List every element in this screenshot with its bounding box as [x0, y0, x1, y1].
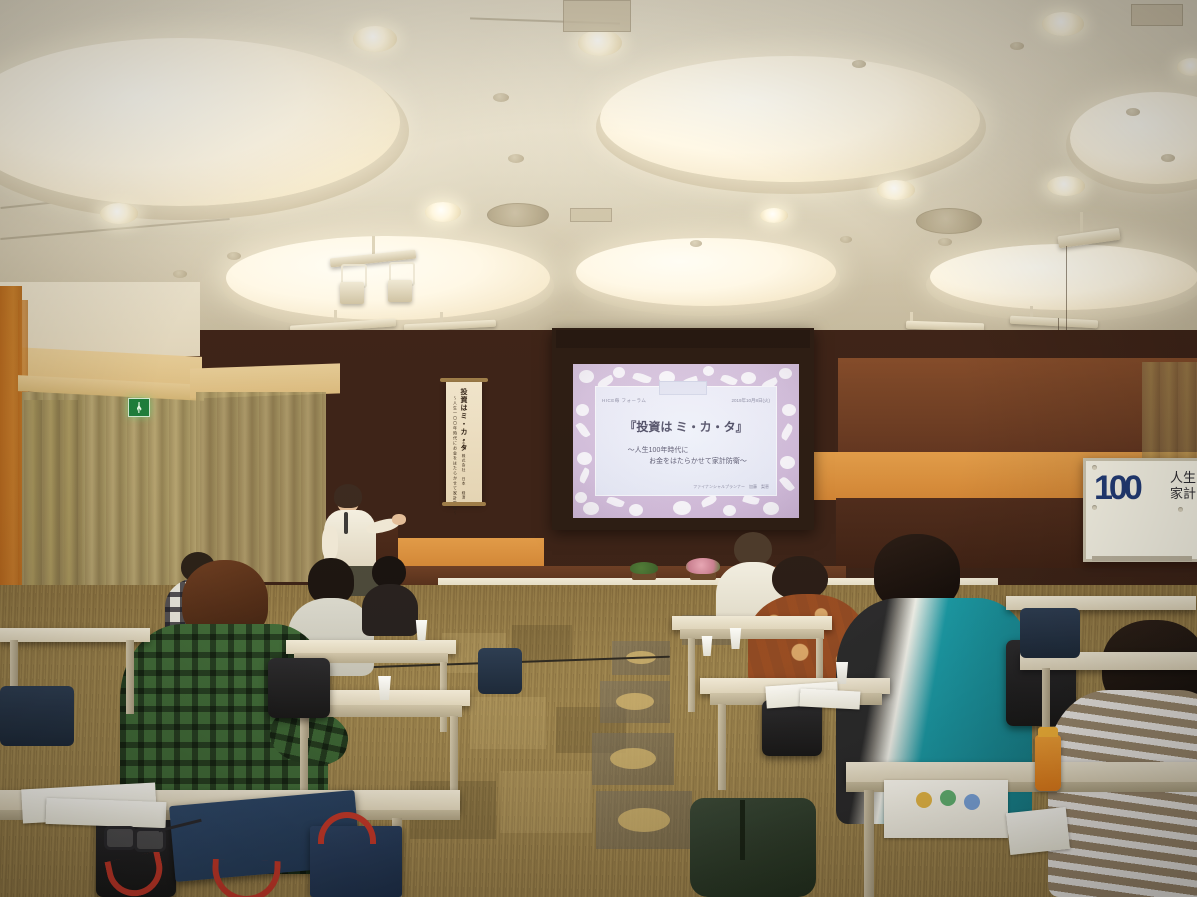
spotlight-head [388, 280, 412, 302]
oval-ceiling-light [226, 236, 550, 320]
downlight [353, 26, 397, 52]
chair [478, 648, 522, 694]
downlight [1042, 12, 1084, 36]
projector-stem [1080, 212, 1083, 234]
chair [268, 658, 330, 718]
poster-magnet [1092, 465, 1097, 470]
desk-apron [680, 629, 824, 639]
carpet-tile-motif [592, 733, 674, 785]
emergency-exit-sign [128, 398, 150, 417]
backpack-strap [740, 800, 745, 860]
eyeglasses [104, 820, 194, 846]
tea-bottle [1035, 735, 1061, 791]
downlight [877, 180, 915, 200]
brochure-graphic [916, 792, 932, 808]
handout-paper [1006, 807, 1070, 855]
carpet-tile [500, 771, 592, 833]
presentation-slide: HICE毎 フォーラム 2019年10月8日(火) 『投資は ミ・カ・タ』 ～人… [573, 364, 799, 518]
speaker-cable [1066, 246, 1067, 342]
attendee-torso [362, 584, 418, 636]
brochure [884, 780, 1008, 838]
projection-screen-header [556, 330, 810, 348]
desk-leg [1042, 668, 1050, 736]
banner-footer: 主催 株式会社 日本 経済 [462, 440, 467, 500]
slide-projection-glare [573, 364, 799, 518]
sprinkler-head [493, 93, 509, 102]
desk [286, 640, 456, 654]
poster-magnet [1178, 507, 1183, 512]
attendee-striped-shirt [1048, 690, 1197, 897]
chair [1020, 608, 1080, 658]
carpet-oval-motif [618, 808, 670, 832]
poster-stand [1092, 556, 1192, 561]
handout-paper [800, 688, 861, 709]
banner-subtitle: ～人生一〇〇年時代にお金をはたらかせて家計防衛～ [452, 396, 458, 516]
downlight [1047, 176, 1085, 196]
sprinkler-head [173, 270, 187, 278]
carpet-tile-motif [600, 681, 670, 723]
sprinkler-head [1126, 108, 1140, 116]
ceiling-vent [487, 203, 549, 227]
microphone [344, 512, 348, 534]
sprinkler-head [840, 236, 852, 243]
carpet-tile [470, 697, 546, 749]
carpet-tile-motif [596, 791, 692, 849]
carpet-oval-motif [610, 748, 656, 769]
chair [762, 700, 822, 756]
spotlight-head [340, 282, 364, 304]
poster-text-line1: 人生 [1170, 471, 1196, 485]
flower-arrangement [630, 562, 658, 574]
sprinkler-head [1161, 154, 1175, 162]
oval-ceiling-light [600, 56, 980, 182]
downlight [100, 203, 138, 224]
backpack [690, 798, 816, 897]
downlight [425, 202, 461, 222]
sprinkler-head [852, 60, 866, 68]
downlight [760, 208, 788, 223]
poster-magnet [1092, 505, 1097, 510]
ceiling-vent [916, 208, 982, 234]
sprinkler-head [690, 240, 702, 247]
ceiling-access-panel [1131, 4, 1183, 26]
chair [0, 686, 74, 746]
oval-ceiling-light [576, 238, 836, 306]
desk [672, 616, 832, 630]
sprinkler-head [508, 154, 524, 163]
vertical-banner: 投資はミ・カ・タ ～人生一〇〇年時代にお金をはたらかせて家計防衛～ 主催 株式会… [446, 382, 482, 504]
carpet-oval-motif [616, 693, 654, 710]
presenter-hand [392, 514, 406, 525]
desk-leg [718, 704, 726, 790]
eyeglasses-lens [104, 826, 136, 850]
sprinkler-head [1010, 42, 1024, 50]
seminar-poster-100: 100 人生 家計 [1083, 458, 1197, 562]
audience-member [362, 556, 418, 636]
logo-100: 100 [1094, 469, 1139, 508]
sprinkler-head [938, 238, 952, 246]
bottle-cap [1038, 727, 1058, 737]
sprinkler-head [227, 252, 241, 260]
desk-leg [864, 790, 874, 897]
poster-text-line2: 家計 [1170, 487, 1196, 501]
brochure-graphic [940, 790, 956, 806]
ceiling-vent-grille [570, 208, 612, 222]
desk-leg [688, 638, 695, 712]
seminar-room-photo: HICE毎 フォーラム 2019年10月8日(火) 『投資は ミ・カ・タ』 ～人… [0, 0, 1197, 897]
desk-leg [126, 640, 134, 714]
desk-leg [450, 716, 458, 794]
brochure-graphic [964, 794, 980, 810]
banner-bottom-rod [442, 502, 486, 506]
downlight [578, 30, 622, 56]
ceiling-access-panel [563, 0, 631, 32]
oval-ceiling-light [930, 244, 1197, 310]
running-person-icon [137, 402, 142, 413]
flower-arrangement [686, 558, 720, 574]
upper-wall [0, 282, 200, 356]
presenter-hair [334, 484, 362, 508]
presenter-left-arm [322, 526, 338, 560]
tote-bag-handle [211, 859, 280, 897]
